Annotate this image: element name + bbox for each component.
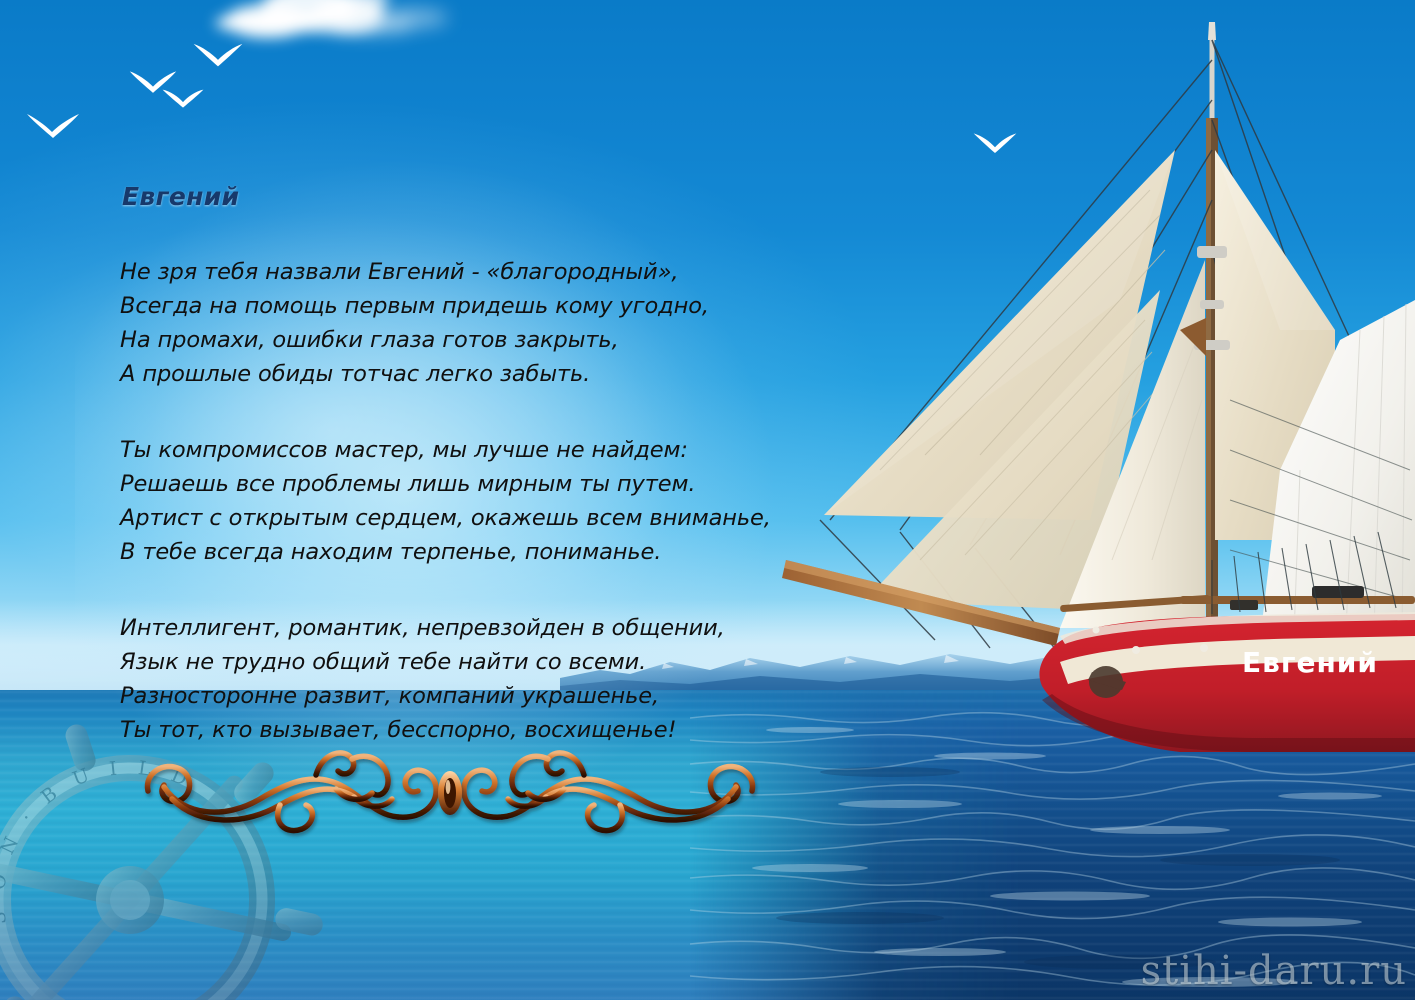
page-title: Евгений (122, 182, 840, 211)
poem-line: Интеллигент, романтик, непревзойден в об… (120, 611, 840, 645)
poem-line: Язык не трудно общий тебе найти со всеми… (120, 645, 840, 679)
poem-stanza: Ты компромиссов мастер, мы лучше не найд… (120, 433, 840, 569)
poem-line: Разносторонне развит, компаний украшенье… (120, 679, 840, 713)
poem-line: В тебе всегда находим терпенье, понимань… (120, 535, 840, 569)
poem-block: Евгений Не зря тебя назвали Евгений - «б… (120, 182, 840, 747)
poem-line: На промахи, ошибки глаза готов закрыть, (120, 323, 840, 357)
poem-stanza: Интеллигент, романтик, непревзойден в об… (120, 611, 840, 747)
poem-line: Не зря тебя назвали Евгений - «благородн… (120, 255, 840, 289)
poem-line: Решаешь все проблемы лишь мирным ты путе… (120, 467, 840, 501)
poem-line: Артист с открытым сердцем, окажешь всем … (120, 501, 840, 535)
site-watermark: stihi-daru.ru (1141, 948, 1407, 994)
poem-line: Всегда на помощь первым придешь кому уго… (120, 289, 840, 323)
poem-stanza: Не зря тебя назвали Евгений - «благородн… (120, 255, 840, 391)
greeting-card: Евгений (0, 0, 1415, 1000)
poem-line: Ты тот, кто вызывает, бесспорно, восхище… (120, 713, 840, 747)
poem-line: Ты компромиссов мастер, мы лучше не найд… (120, 433, 840, 467)
poem-line: А прошлые обиды тотчас легко забыть. (120, 357, 840, 391)
